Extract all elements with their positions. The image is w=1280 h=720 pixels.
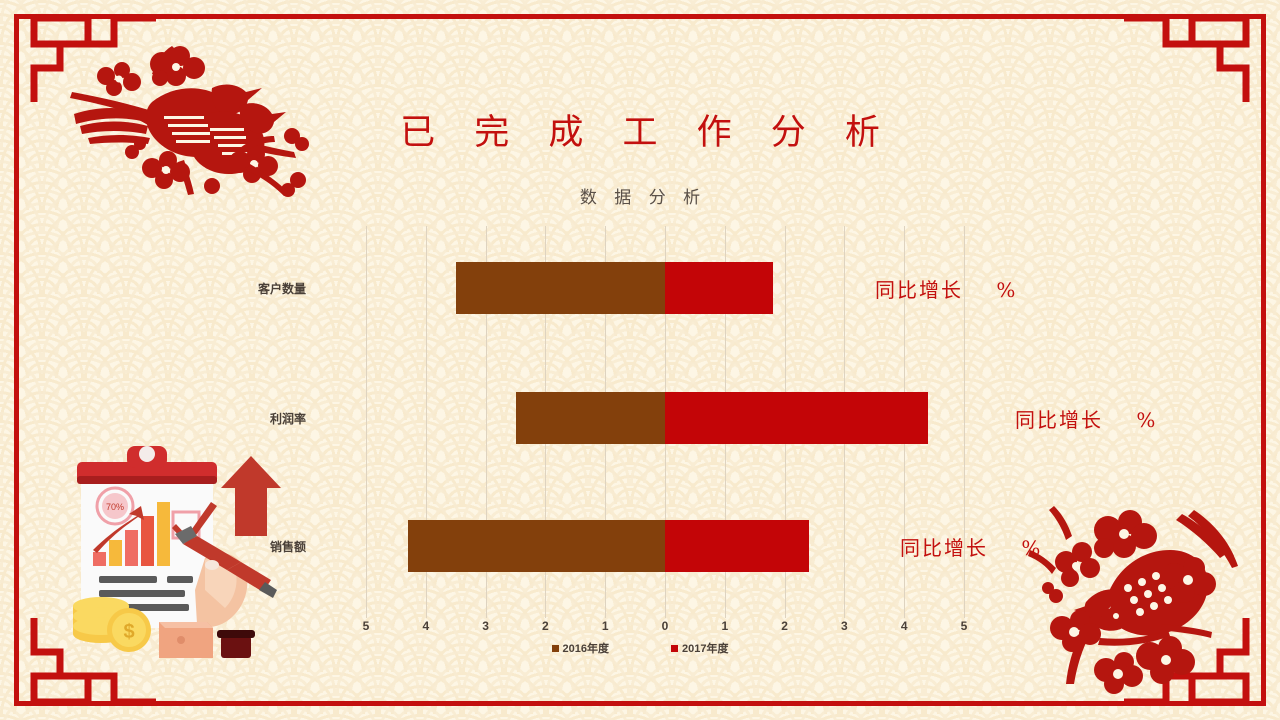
chart-bar-2016年度[interactable] bbox=[456, 262, 665, 314]
chart-bar-2017年度[interactable] bbox=[665, 262, 773, 314]
chart-category-label: 销售额 bbox=[186, 538, 306, 555]
chart-bar-2016年度[interactable] bbox=[408, 520, 665, 572]
chart-x-tick: 2 bbox=[530, 619, 560, 633]
chart-category-label: 客户数量 bbox=[186, 280, 306, 297]
chart-x-tick: 1 bbox=[710, 619, 740, 633]
legend-item-2017年度[interactable]: 2017年度 bbox=[671, 640, 728, 656]
chart-x-tick: 0 bbox=[650, 619, 680, 633]
legend-label: 2017年度 bbox=[682, 640, 728, 656]
legend-swatch-icon bbox=[552, 645, 559, 652]
growth-annotation: 同比增长 % bbox=[875, 274, 1017, 303]
chart-x-tick: 2 bbox=[770, 619, 800, 633]
legend-swatch-icon bbox=[671, 645, 678, 652]
chart-x-tick: 5 bbox=[351, 619, 381, 633]
chart-bar-2016年度[interactable] bbox=[516, 392, 666, 444]
chart-x-tick: 4 bbox=[411, 619, 441, 633]
chart-x-tick: 3 bbox=[471, 619, 501, 633]
diverging-bar-chart: 客户数量同比增长 %利润率同比增长 %销售额同比增长 %543210123452… bbox=[0, 0, 1280, 720]
chart-x-tick: 5 bbox=[949, 619, 979, 633]
growth-annotation: 同比增长 % bbox=[900, 532, 1042, 561]
chart-legend: 2016年度2017年度 bbox=[0, 640, 1280, 656]
growth-annotation: 同比增长 % bbox=[1015, 404, 1157, 433]
chart-gridline bbox=[366, 226, 367, 618]
chart-bar-2017年度[interactable] bbox=[665, 520, 809, 572]
slide-canvas: 70% bbox=[0, 0, 1280, 720]
chart-x-tick: 3 bbox=[829, 619, 859, 633]
legend-label: 2016年度 bbox=[563, 640, 609, 656]
chart-x-tick: 1 bbox=[590, 619, 620, 633]
chart-bar-2017年度[interactable] bbox=[665, 392, 928, 444]
legend-item-2016年度[interactable]: 2016年度 bbox=[552, 640, 609, 656]
chart-x-tick: 4 bbox=[889, 619, 919, 633]
chart-category-label: 利润率 bbox=[186, 410, 306, 427]
